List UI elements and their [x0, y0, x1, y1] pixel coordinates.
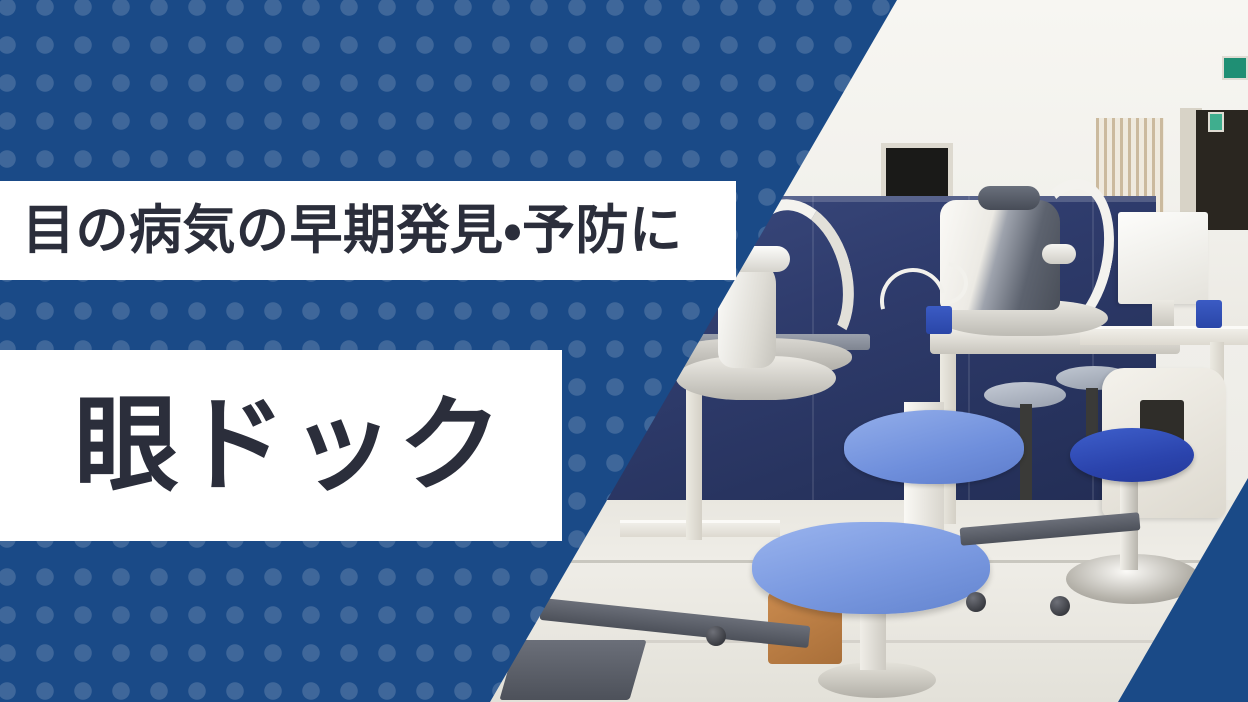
patient-chair-back: [844, 410, 1024, 484]
monitor: [1118, 212, 1208, 304]
caster-wheel: [706, 626, 726, 646]
exit-sign-icon: [1208, 112, 1224, 132]
fundus-camera-hood: [978, 186, 1040, 210]
caster-wheel: [1050, 596, 1070, 616]
doorway-left: [886, 148, 948, 196]
exit-sign-icon: [1222, 56, 1248, 80]
fundus-camera-joystick: [1042, 244, 1076, 264]
patient-chair-seat: [752, 522, 990, 614]
subtitle-band: 目の病気の早期発見・予防に: [0, 181, 736, 280]
equipment-base: [499, 640, 646, 700]
monitor-stand: [1152, 300, 1174, 326]
title-band: 眼ドック: [0, 350, 562, 541]
round-stool-seat: [1070, 428, 1194, 482]
eye-dock-banner: 目の病気の早期発見・予防に 眼ドック: [0, 0, 1248, 702]
blue-cup: [1196, 300, 1222, 328]
caster-wheel: [966, 592, 986, 612]
banner-title: 眼ドック: [74, 394, 506, 498]
floor-line: [600, 640, 1248, 643]
banner-subtitle: 目の病気の早期発見・予防に: [22, 204, 683, 257]
